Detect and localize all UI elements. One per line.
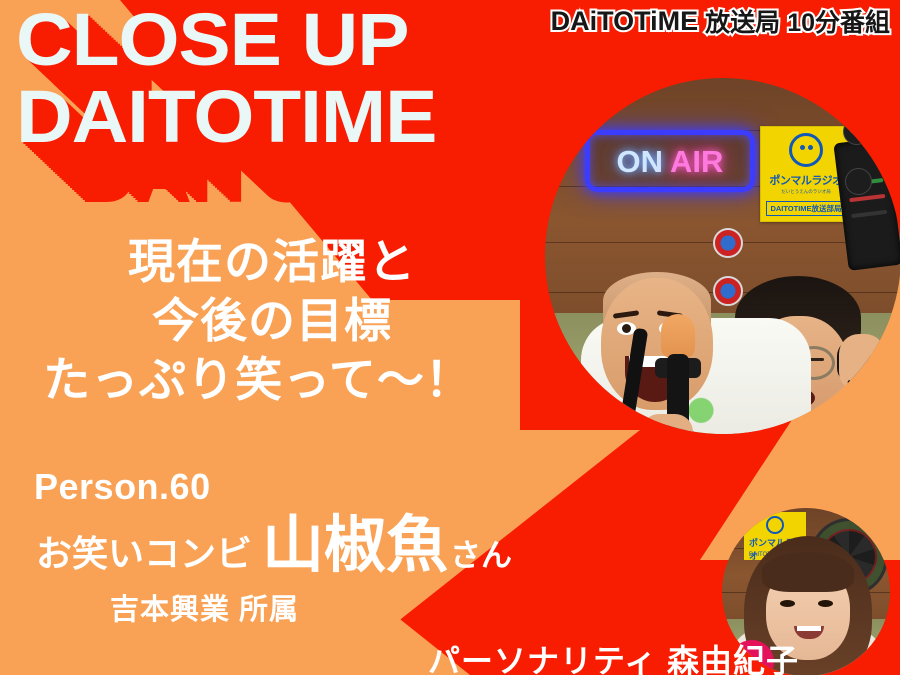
- wall-badge-1: [713, 228, 743, 258]
- header-brand: DAiTOTiME: [551, 6, 699, 37]
- radio-mascot-icon: [789, 133, 823, 167]
- catchcopy-line-3: たっぷり笑って〜！: [0, 350, 520, 409]
- person-number: Person.60: [34, 466, 211, 508]
- studio-wall: ON AIR ポンマルラジオ だいとうえんのラジオ局 DAITOTIME放送部局: [545, 78, 900, 434]
- catchcopy-block: 現在の活躍と 今後の目標 たっぷり笑って〜！: [0, 232, 520, 410]
- title-line-2: DAITOTIME: [16, 81, 436, 154]
- poster-canvas: DAiTOTiME 放送局 10分番組 CLOSE UP DAITOTIME 現…: [0, 0, 900, 675]
- person-role: お笑いコンビ: [36, 525, 252, 577]
- person-name-row: お笑いコンビ 山椒魚 さん: [36, 515, 512, 577]
- radio-mascot-icon-sub: [766, 516, 784, 534]
- page-title: CLOSE UP DAITOTIME: [16, 4, 413, 153]
- wall-badge-3: [845, 168, 872, 195]
- personality-caption: パーソナリティ 森由紀子: [428, 636, 799, 675]
- neon-air-text: AIR: [670, 146, 723, 177]
- catchcopy-line-1: 現在の活躍と: [24, 232, 520, 291]
- main-guest-photo: ON AIR ポンマルラジオ だいとうえんのラジオ局 DAITOTIME放送部局: [545, 78, 900, 434]
- guest-person-1: [587, 268, 727, 434]
- poster-title: ポンマルラジオ: [769, 172, 842, 188]
- person-name: 山椒魚: [262, 515, 448, 577]
- header-duration-badge: 10分番組: [787, 3, 890, 39]
- poster-subtitle: だいとうえんのラジオ局: [781, 189, 830, 195]
- wall-badge-4: [843, 118, 870, 145]
- title-line-1: CLOSE UP: [16, 4, 436, 77]
- catchcopy-line-2: 今後の目標: [24, 291, 520, 350]
- person-honorific: さん: [450, 530, 512, 575]
- header-strip: DAiTOTiME 放送局 10分番組: [551, 3, 890, 39]
- on-air-neon-sign: ON AIR: [585, 130, 755, 192]
- mixer-console: [833, 137, 900, 271]
- poster-band-text: DAITOTIME放送部局: [766, 201, 845, 216]
- neon-on-text: ON: [617, 146, 664, 177]
- person-agency: 吉本興業 所属: [110, 586, 299, 628]
- header-station: 放送局: [705, 3, 780, 39]
